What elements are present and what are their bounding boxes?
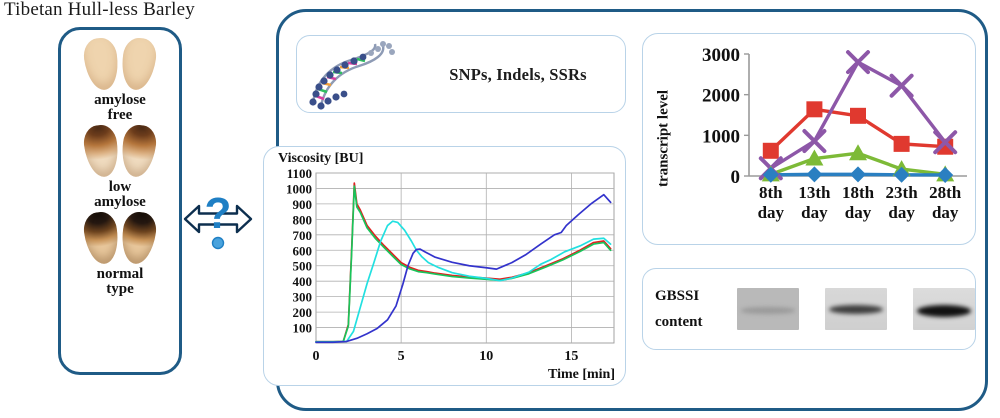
seed-types-panel: amylose free low amylose normal type <box>58 27 182 375</box>
svg-text:500: 500 <box>293 259 313 274</box>
dna-helix-icon <box>307 40 403 110</box>
svg-text:3000: 3000 <box>702 45 740 66</box>
viscosity-x-axis-label: Time [min] <box>548 367 615 383</box>
svg-text:?: ? <box>205 189 232 238</box>
page-title: Tibetan Hull-less Barley <box>4 0 195 21</box>
svg-text:600: 600 <box>293 243 313 258</box>
svg-text:5: 5 <box>398 349 405 364</box>
seed-label-line1: amylose <box>94 93 146 108</box>
seed-label-line2: amylose <box>94 195 146 210</box>
gbssi-label-line1: GBSSI <box>655 283 737 309</box>
svg-text:18th: 18th <box>842 183 875 202</box>
svg-text:1000: 1000 <box>702 126 740 147</box>
seed-label-line1: low <box>94 180 146 195</box>
svg-text:day: day <box>845 203 872 222</box>
svg-text:800: 800 <box>293 212 313 227</box>
svg-text:2000: 2000 <box>702 86 740 107</box>
transcript-level-panel: transcript level 01000200030008thday13th… <box>642 33 976 245</box>
barley-kernel-pair-icon <box>81 125 159 177</box>
snp-panel-text: SNPs, Indels, SSRs <box>417 36 619 114</box>
barley-kernel-pair-icon <box>81 212 159 264</box>
western-blot-row <box>737 288 975 330</box>
svg-text:8th: 8th <box>759 183 783 202</box>
svg-text:0: 0 <box>313 349 320 364</box>
svg-text:15: 15 <box>564 349 578 364</box>
gbssi-label: GBSSI content <box>643 283 737 335</box>
svg-text:28th: 28th <box>929 183 962 202</box>
svg-text:day: day <box>888 203 915 222</box>
seed-type-label: amylose free <box>94 93 146 123</box>
viscosity-chart-panel: Viscosity [BU] 1002003004005006007008009… <box>263 146 626 386</box>
seed-type-amylose-free: amylose free <box>61 36 179 123</box>
seed-type-normal: normal type <box>61 210 179 297</box>
viscosity-chart: 1002003004005006007008009001000110005101… <box>264 147 627 387</box>
blot-lane-3 <box>913 288 975 330</box>
svg-text:300: 300 <box>293 290 313 305</box>
blot-lane-2 <box>825 288 887 330</box>
seed-label-line1: normal <box>97 267 144 282</box>
gbssi-content-panel: GBSSI content <box>642 268 976 350</box>
svg-text:10: 10 <box>479 349 493 364</box>
barley-kernel-pair-icon <box>81 38 159 90</box>
svg-text:23th: 23th <box>886 183 919 202</box>
seed-label-line2: free <box>94 108 146 123</box>
seed-type-low-amylose: low amylose <box>61 123 179 210</box>
blot-lane-1 <box>737 288 799 330</box>
seed-type-label: normal type <box>97 267 144 297</box>
svg-text:700: 700 <box>293 228 313 243</box>
snp-panel: SNPs, Indels, SSRs <box>296 35 626 113</box>
svg-text:900: 900 <box>293 197 313 212</box>
svg-text:1100: 1100 <box>287 166 312 181</box>
svg-text:100: 100 <box>293 321 313 336</box>
svg-text:day: day <box>932 203 959 222</box>
seed-label-line2: type <box>97 282 144 297</box>
transcript-level-chart: 01000200030008thday13thday18thday23thday… <box>673 40 973 240</box>
seed-type-label: low amylose <box>94 180 146 210</box>
svg-text:0: 0 <box>731 167 741 188</box>
svg-text:1000: 1000 <box>286 181 312 196</box>
svg-text:day: day <box>801 203 828 222</box>
svg-text:400: 400 <box>293 274 313 289</box>
gbssi-label-line2: content <box>655 309 737 335</box>
svg-text:day: day <box>758 203 785 222</box>
double-arrow-question-mark-icon: ? <box>183 186 253 252</box>
svg-text:13th: 13th <box>798 183 831 202</box>
svg-text:200: 200 <box>293 305 313 320</box>
